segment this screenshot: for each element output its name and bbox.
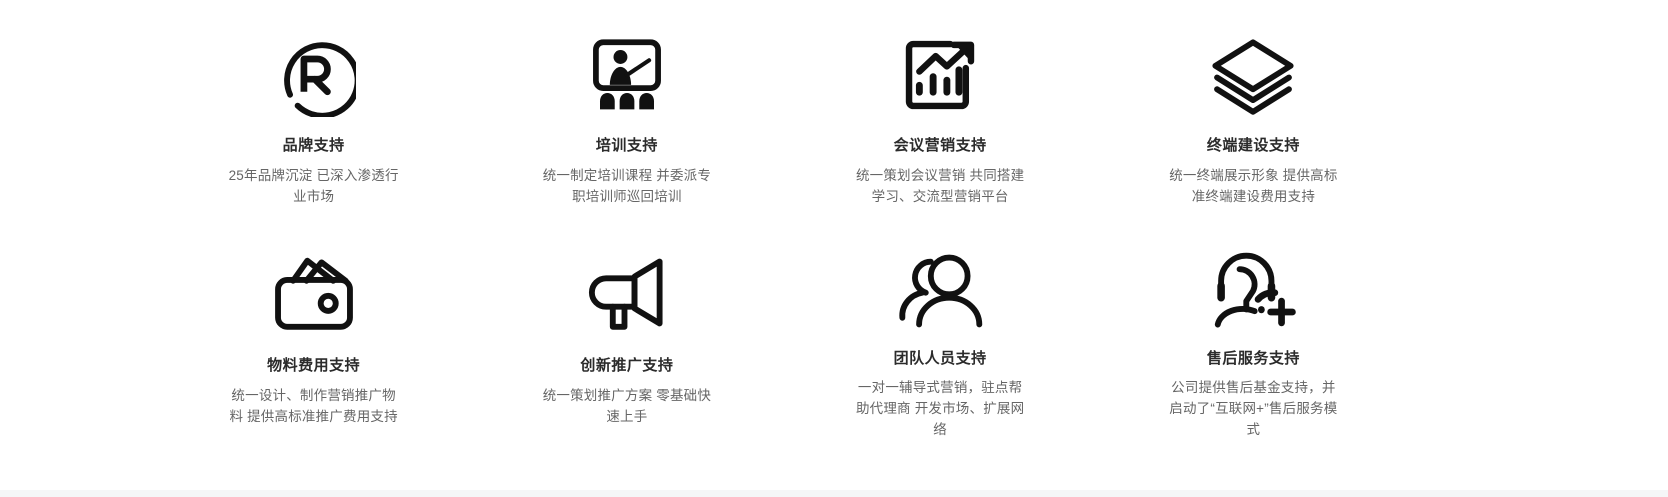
wallet-icon xyxy=(268,240,360,350)
feature-card-material-cost-support[interactable]: 物料费用支持 统一设计、制作营销推广物料 提供高标准推广费用支持 xyxy=(157,220,470,440)
feature-description: 统一策划推广方案 零基础快速上手 xyxy=(538,385,716,427)
feature-description: 统一策划会议营销 共同搭建学习、交流型营销平台 xyxy=(851,165,1029,207)
feature-card-after-sales-service-support[interactable]: 售后服务支持 公司提供售后基金支持，并启动了“互联网+”售后服务模式 xyxy=(1097,220,1410,440)
feature-description: 统一终端展示形象 提供高标准终端建设费用支持 xyxy=(1164,165,1342,207)
feature-card-brand-support[interactable]: 品牌支持 25年品牌沉淀 已深入渗透行业市场 xyxy=(157,0,470,220)
layers-stack-icon xyxy=(1207,20,1299,130)
feature-card-conference-marketing-support[interactable]: 会议营销支持 统一策划会议营销 共同搭建学习、交流型营销平台 xyxy=(784,0,1097,220)
registered-trademark-icon xyxy=(272,20,356,130)
customer-service-add-icon xyxy=(1206,240,1300,343)
feature-title: 物料费用支持 xyxy=(267,356,360,376)
feature-title: 会议营销支持 xyxy=(894,136,987,156)
team-people-icon xyxy=(894,240,986,343)
feature-description: 公司提供售后基金支持，并启动了“互联网+”售后服务模式 xyxy=(1164,377,1342,440)
feature-card-terminal-construction-support[interactable]: 终端建设支持 统一终端展示形象 提供高标准终端建设费用支持 xyxy=(1097,0,1410,220)
feature-title: 品牌支持 xyxy=(283,136,345,156)
feature-description: 一对一辅导式营销，驻点帮助代理商 开发市场、扩展网络 xyxy=(851,377,1029,440)
features-grid: 品牌支持 25年品牌沉淀 已深入渗透行业市场 培训支持 统一制定培训课程 并委派… xyxy=(157,0,1410,440)
feature-title: 售后服务支持 xyxy=(1207,349,1300,369)
feature-card-team-personnel-support[interactable]: 团队人员支持 一对一辅导式营销，驻点帮助代理商 开发市场、扩展网络 xyxy=(784,220,1097,440)
training-presentation-icon xyxy=(582,20,672,130)
feature-title: 团队人员支持 xyxy=(894,349,987,369)
feature-description: 统一制定培训课程 并委派专职培训师巡回培训 xyxy=(538,165,716,207)
feature-card-training-support[interactable]: 培训支持 统一制定培训课程 并委派专职培训师巡回培训 xyxy=(470,0,783,220)
feature-title: 终端建设支持 xyxy=(1207,136,1300,156)
growth-chart-icon xyxy=(897,20,983,130)
feature-title: 培训支持 xyxy=(596,136,658,156)
feature-title: 创新推广支持 xyxy=(580,356,673,376)
feature-card-innovative-promotion-support[interactable]: 创新推广支持 统一策划推广方案 零基础快速上手 xyxy=(470,220,783,440)
agent-support-section: 品牌支持 25年品牌沉淀 已深入渗透行业市场 培训支持 统一制定培训课程 并委派… xyxy=(0,0,1668,490)
megaphone-icon xyxy=(581,240,673,350)
feature-description: 统一设计、制作营销推广物料 提供高标准推广费用支持 xyxy=(225,385,403,427)
section-divider xyxy=(0,490,1668,497)
feature-description: 25年品牌沉淀 已深入渗透行业市场 xyxy=(225,165,403,207)
